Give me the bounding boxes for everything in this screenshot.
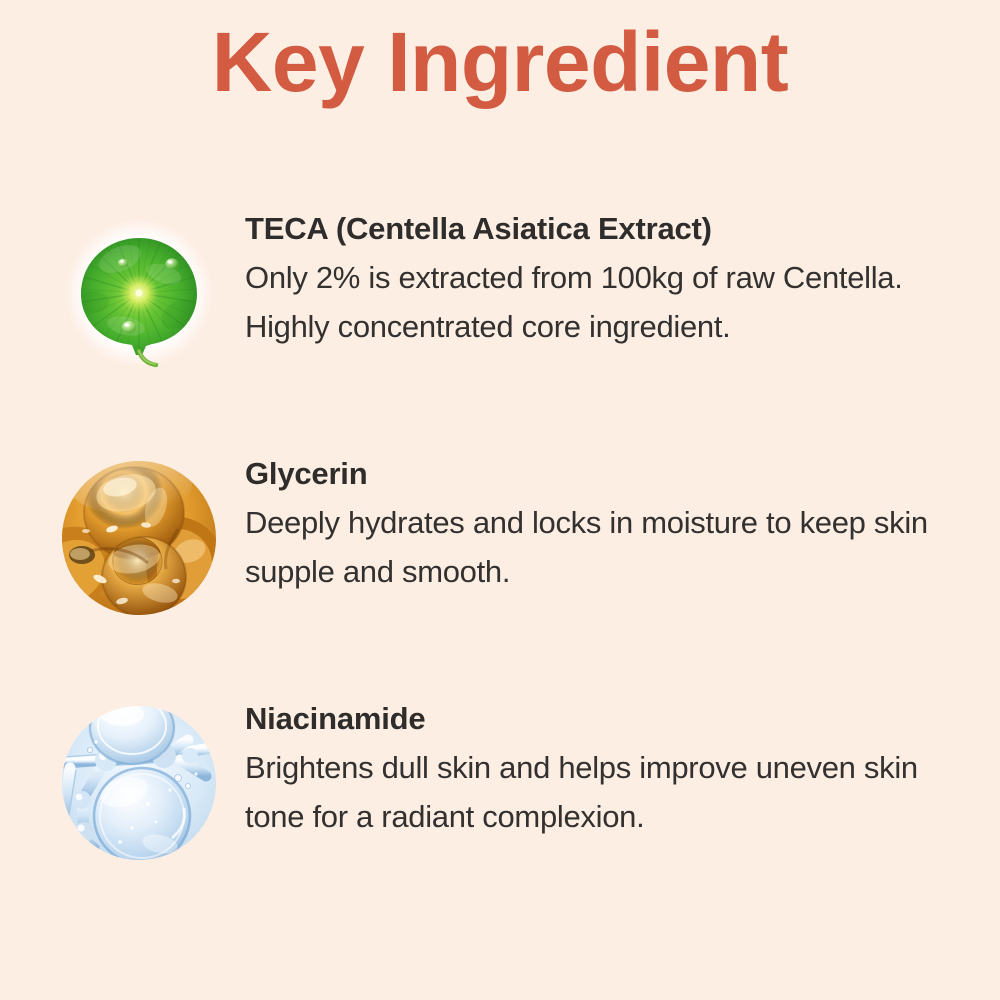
ingredient-name: TECA (Centella Asiatica Extract) [245, 208, 965, 250]
ingredient-item-teca: TECA (Centella Asiatica Extract) Only 2%… [0, 200, 1000, 445]
ingredient-description: Only 2% is extracted from 100kg of raw C… [245, 254, 965, 352]
ingredient-name: Glycerin [245, 453, 965, 495]
key-ingredient-panel: Key Ingredient [0, 0, 1000, 1000]
ingredient-list: TECA (Centella Asiatica Extract) Only 2%… [0, 200, 1000, 935]
ingredient-text-niacinamide: Niacinamide Brightens dull skin and help… [245, 698, 965, 842]
ingredient-description: Deeply hydrates and locks in moisture to… [245, 499, 965, 597]
page-title: Key Ingredient [0, 18, 1000, 106]
ingredient-item-glycerin: Glycerin Deeply hydrates and locks in mo… [0, 445, 1000, 690]
ingredient-name: Niacinamide [245, 698, 965, 740]
centella-leaf-icon [60, 214, 218, 372]
ingredient-description: Brightens dull skin and helps improve un… [245, 744, 965, 842]
ingredient-text-teca: TECA (Centella Asiatica Extract) Only 2%… [245, 208, 965, 352]
niacinamide-bubble-icon [60, 704, 218, 862]
glycerin-gel-icon [60, 459, 218, 617]
ingredient-text-glycerin: Glycerin Deeply hydrates and locks in mo… [245, 453, 965, 597]
ingredient-item-niacinamide: Niacinamide Brightens dull skin and help… [0, 690, 1000, 935]
